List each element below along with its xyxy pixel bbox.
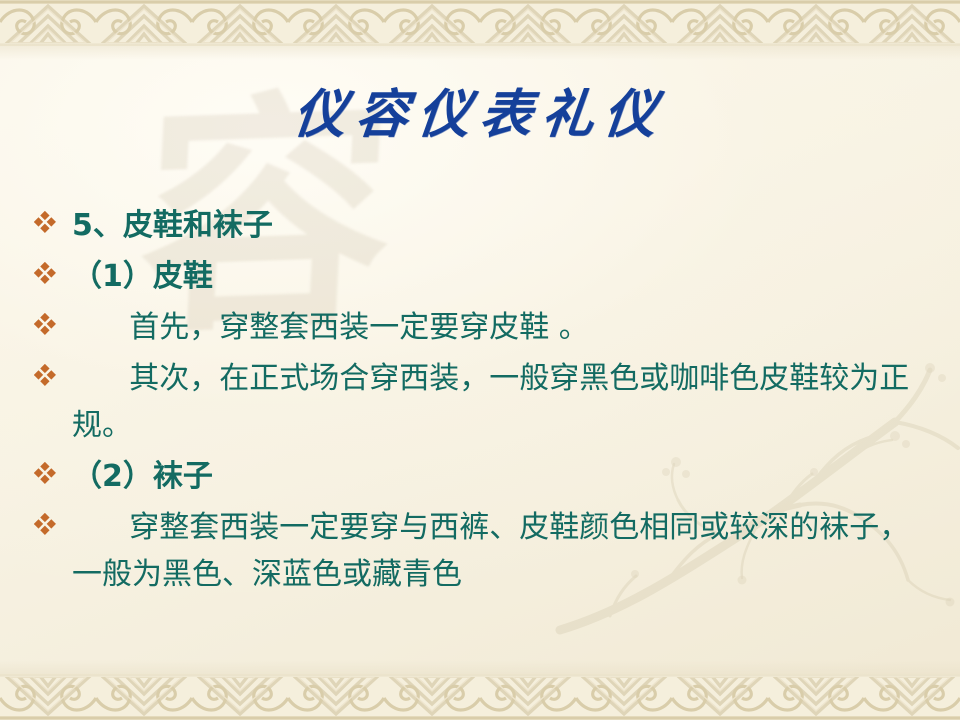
bullet-item: 穿整套西装一定要穿与西裤、皮鞋颜色相同或较深的袜子，一般为黑色、深蓝色或藏青色 [34,504,930,598]
border-fade-top [0,44,960,60]
bullet-item: 5、皮鞋和袜子 [34,202,930,249]
diamond-cluster-bullet-icon [34,355,72,386]
decorative-border-top [0,0,960,46]
diamond-cluster-bullet-icon [34,304,72,335]
bullet-item: （2）袜子 [34,453,930,500]
slide-canvas: 容 [0,0,960,720]
bullet-item-label: 5、皮鞋和袜子 [72,202,930,249]
bullet-item-label: （1）皮鞋 [72,253,930,300]
decorative-border-bottom [0,674,960,720]
bullet-item: 其次，在正式场合穿西装，一般穿黑色或咖啡色皮鞋较为正规。 [34,355,930,449]
bullet-item-label: （2）袜子 [72,453,930,500]
bullet-item-label: 其次，在正式场合穿西装，一般穿黑色或咖啡色皮鞋较为正规。 [72,355,930,449]
bullet-item: 首先，穿整套西装一定要穿皮鞋 。 [34,304,930,351]
bullet-item-label: 首先，穿整套西装一定要穿皮鞋 。 [72,304,930,351]
diamond-cluster-bullet-icon [34,202,72,233]
diamond-cluster-bullet-icon [34,453,72,484]
border-fade-bottom [0,660,960,676]
diamond-cluster-bullet-icon [34,253,72,284]
bullet-item-label: 穿整套西装一定要穿与西裤、皮鞋颜色相同或较深的袜子，一般为黑色、深蓝色或藏青色 [72,504,930,598]
bullet-list: 5、皮鞋和袜子（1）皮鞋 首先，穿整套西装一定要穿皮鞋 。 其次，在正式场合穿西… [34,202,930,602]
slide-title: 仪容仪表礼仪 [0,86,960,143]
diamond-cluster-bullet-icon [34,504,72,535]
bullet-item: （1）皮鞋 [34,253,930,300]
